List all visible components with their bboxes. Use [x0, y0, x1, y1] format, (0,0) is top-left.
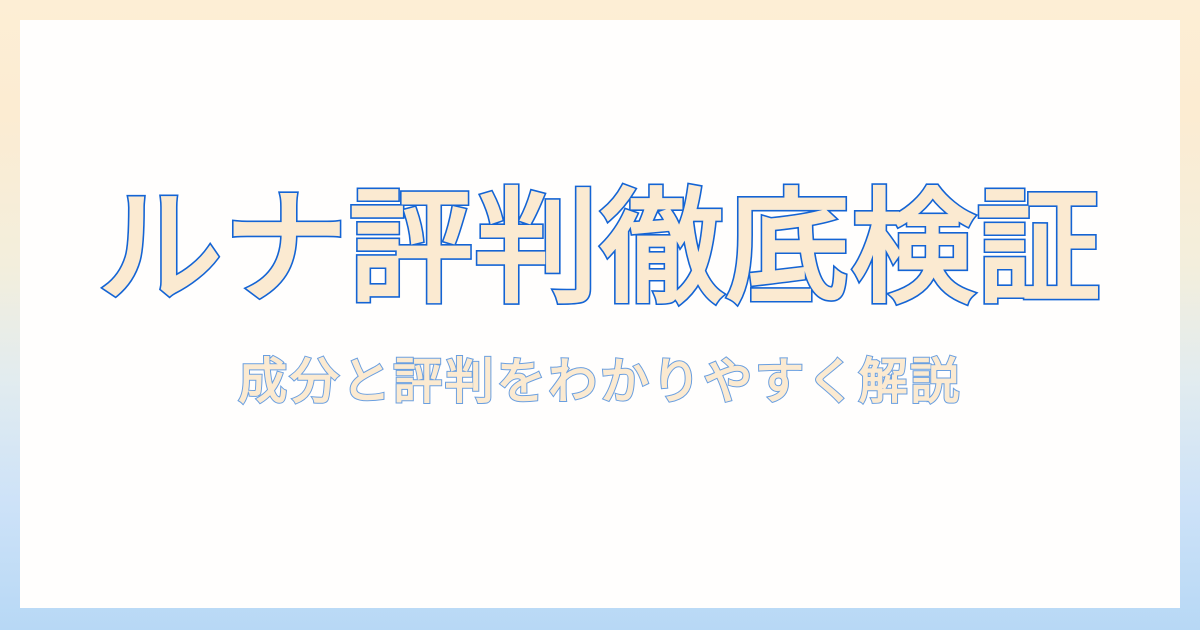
- page-title: ルナ評判徹底検証: [20, 187, 1180, 311]
- eyecatch-frame: ルナ評判徹底検証 成分と評判をわかりやすく解説: [0, 0, 1200, 630]
- page-subtitle: 成分と評判をわかりやすく解説: [20, 357, 1180, 406]
- eyecatch-card: ルナ評判徹底検証 成分と評判をわかりやすく解説: [20, 20, 1180, 608]
- eyecatch-content: ルナ評判徹底検証 成分と評判をわかりやすく解説: [20, 187, 1180, 406]
